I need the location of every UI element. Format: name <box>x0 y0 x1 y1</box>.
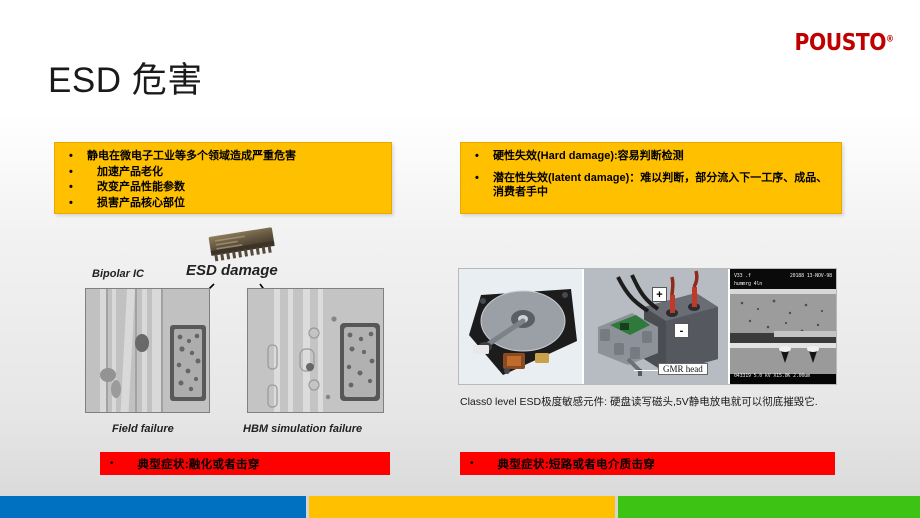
callout-left-list: •静电在微电子工业等多个领域造成严重危害 •加速产品老化 •改变产品性能参数 •… <box>55 143 391 210</box>
bullet-icon: • <box>69 165 73 180</box>
caption-field-failure: Field failure <box>112 423 174 435</box>
list-item-label: 加速产品老化 <box>97 166 163 178</box>
sem-footer-scale-text: 043319 5.0 kV X15.0K 2.00um <box>734 373 810 379</box>
callout-box-left: •静电在微电子工业等多个领域造成严重危害 •加速产品老化 •改变产品性能参数 •… <box>54 142 392 214</box>
list-item-label: 静电在微电子工业等多个领域造成严重危害 <box>87 150 296 162</box>
red-banner-right-label: 典型症状:短路或者电介质击穿 <box>498 456 656 472</box>
list-item-label: 改变产品性能参数 <box>97 181 185 193</box>
micrograph-field-failure <box>85 288 210 413</box>
gmr-head-label: GMR head <box>658 363 708 375</box>
photo-esd-test-setup: + - GMR head <box>584 269 730 384</box>
red-banner-right: • 典型症状:短路或者电介质击穿 <box>460 452 835 475</box>
ic-chip-photo <box>196 226 288 262</box>
list-item: •加速产品老化 <box>65 165 383 180</box>
brand-logo-text: POUSTO <box>795 30 886 56</box>
caption-class0-esd: Class0 level ESD极度敏感元件: 硬盘读写磁头,5V静电放电就可以… <box>460 394 860 409</box>
label-bipolar-ic: Bipolar IC <box>92 268 144 280</box>
list-item: •改变产品性能参数 <box>65 180 383 195</box>
sem-header-text-2: hummrg 4ln <box>734 281 762 287</box>
list-item: •潜在性失效(latent damage)：难以判断，部分流入下一工序、成品、消… <box>471 171 833 200</box>
bullet-icon: • <box>475 149 479 164</box>
callout-box-right: •硬性失效(Hard damage):容易判断检测 •潜在性失效(latent … <box>460 142 842 214</box>
registered-trademark-icon: ® <box>886 34 894 44</box>
label-esd-damage: ESD damage <box>186 262 278 279</box>
red-banner-left: • 典型症状:融化或者击穿 <box>100 452 390 475</box>
bullet-icon: • <box>69 149 73 164</box>
bullet-icon: • <box>69 196 73 211</box>
footer-segment-yellow <box>309 496 615 518</box>
list-item-label: 硬性失效(Hard damage):容易判断检测 <box>493 150 684 162</box>
list-item-label: 损害产品核心部位 <box>97 197 185 209</box>
callout-right-list: •硬性失效(Hard damage):容易判断检测 •潜在性失效(latent … <box>461 143 841 200</box>
sem-header-date: 20188 13-NOV-98 <box>790 273 832 279</box>
caption-hbm-failure: HBM simulation failure <box>243 423 362 435</box>
list-item: •硬性失效(Hard damage):容易判断检测 <box>471 149 833 164</box>
photo-hard-disk-drive <box>459 269 584 384</box>
footer-segment-blue <box>0 496 306 518</box>
polarity-minus-badge: - <box>674 323 689 338</box>
micrograph-hbm-failure <box>247 288 384 413</box>
photo-strip: + - GMR head <box>458 268 837 385</box>
slide-canvas: POUSTO® ESD 危害 •静电在微电子工业等多个领域造成严重危害 •加速产… <box>0 0 920 518</box>
bullet-icon: • <box>69 180 73 195</box>
footer-color-bar <box>0 496 920 518</box>
bullet-icon: • <box>110 458 114 469</box>
bullet-icon: • <box>475 171 479 186</box>
page-title: ESD 危害 <box>48 52 203 103</box>
polarity-plus-badge: + <box>652 287 667 302</box>
red-banner-left-label: 典型症状:融化或者击穿 <box>138 456 260 472</box>
photo-sem-micrograph: V33 .f hummrg 4ln 20188 13-NOV-98 043319… <box>730 269 836 384</box>
list-item: •损害产品核心部位 <box>65 196 383 211</box>
footer-segment-green <box>618 496 920 518</box>
brand-logo: POUSTO® <box>795 30 894 56</box>
gmr-leader-line <box>634 370 658 371</box>
sem-header-text-1: V33 .f <box>734 273 751 279</box>
bullet-icon: • <box>470 458 474 469</box>
list-item: •静电在微电子工业等多个领域造成严重危害 <box>65 149 383 164</box>
list-item-label: 潜在性失效(latent damage)：难以判断，部分流入下一工序、成品、消费… <box>493 172 827 199</box>
